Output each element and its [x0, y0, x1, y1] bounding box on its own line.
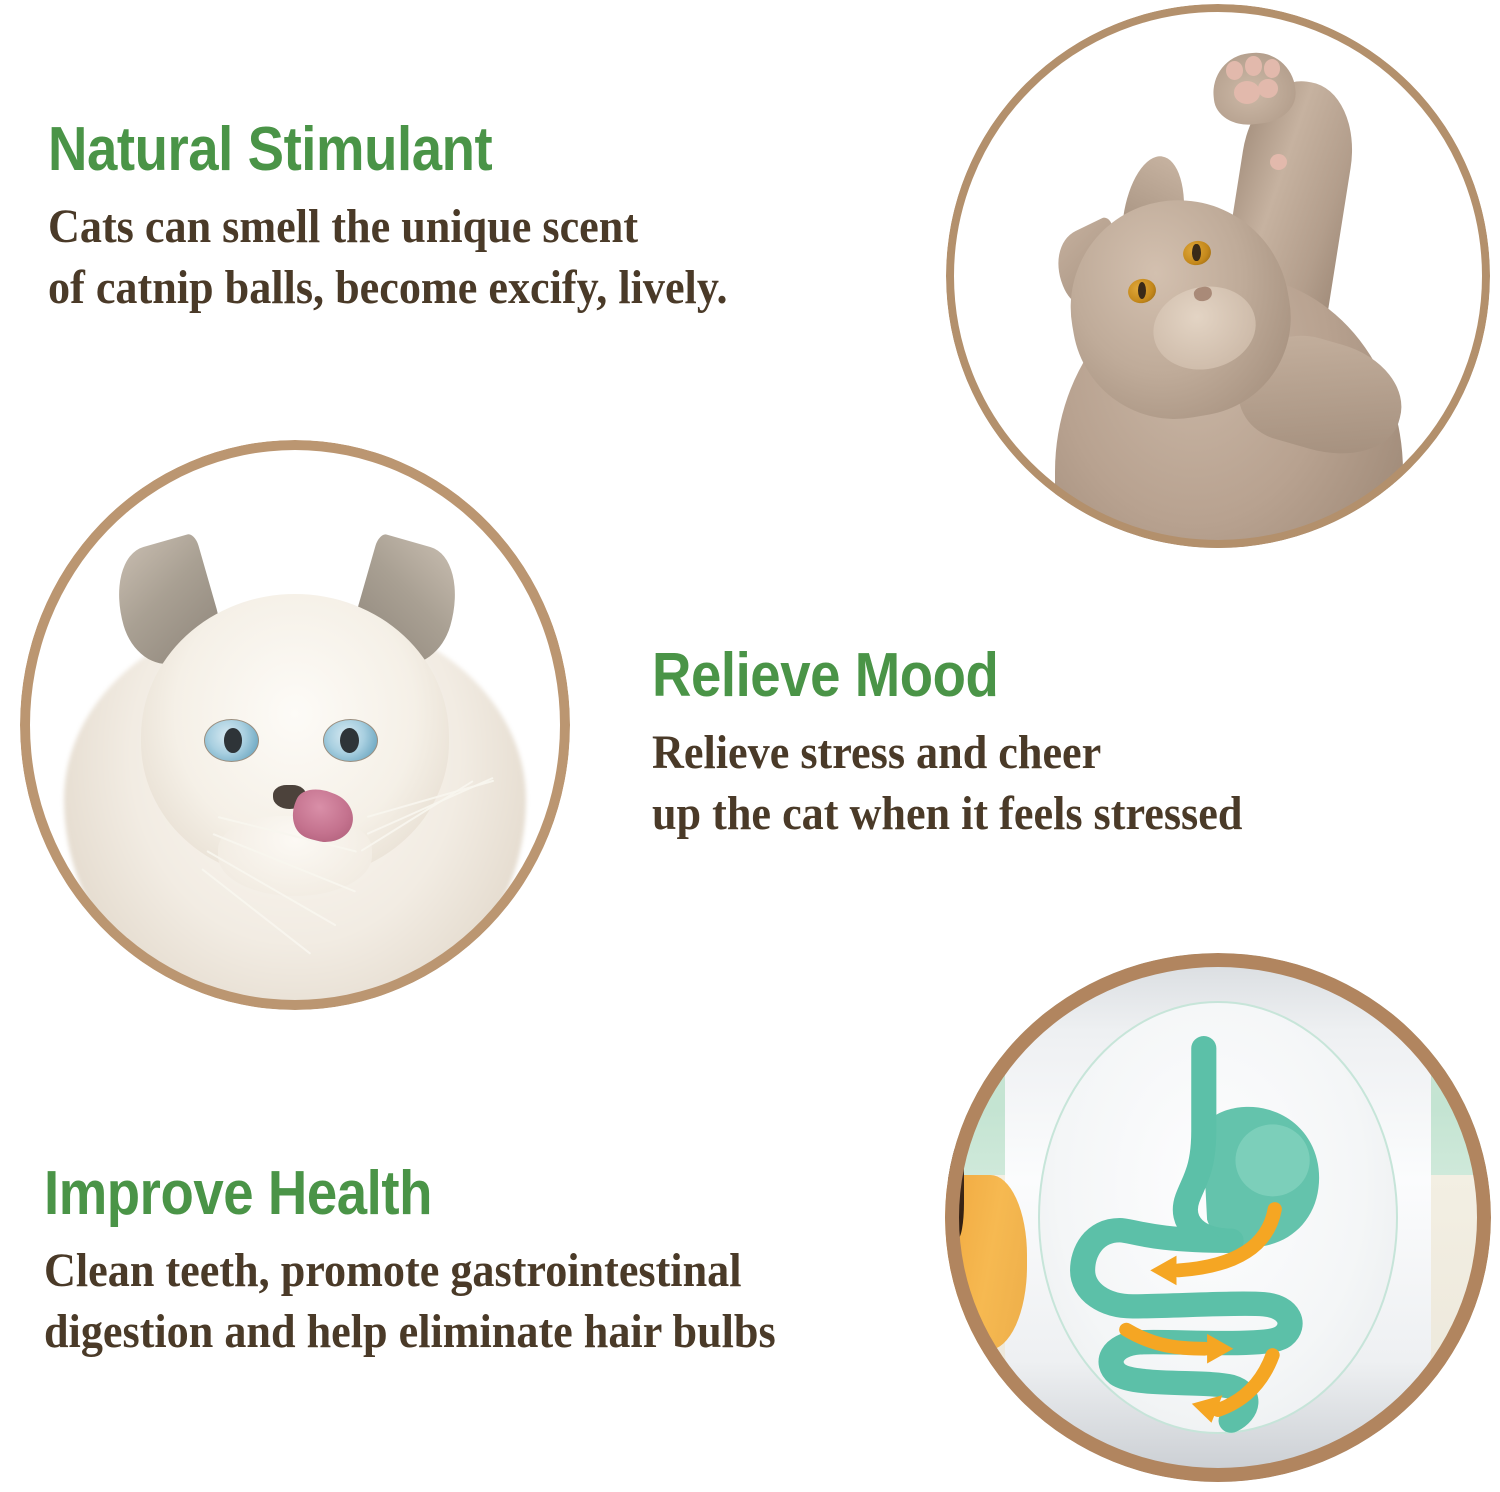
feature-text-line: Clean teeth, promote gastrointestinal [44, 1241, 776, 1301]
feature-title-relieve-mood: Relieve Mood [652, 644, 1217, 707]
feature-block-natural-stimulant: Natural Stimulant Cats can smell the uni… [48, 118, 787, 318]
photo-circle-reaching-cat [946, 4, 1490, 548]
reaching-cat-photo [946, 4, 1490, 548]
digestive-tract-icon [945, 953, 1491, 1482]
feature-title-natural-stimulant: Natural Stimulant [48, 118, 698, 181]
feature-text-line: digestion and help eliminate hair bulbs [44, 1302, 776, 1362]
feature-title-improve-health: Improve Health [44, 1162, 744, 1225]
feature-text-line: up the cat when it feels stressed [652, 784, 1242, 844]
feature-text-line: Cats can smell the unique scent [48, 197, 728, 257]
digestive-diagram-photo [945, 953, 1491, 1482]
feature-text-line: Relieve stress and cheer [652, 723, 1242, 783]
photo-circle-digestive-diagram [945, 953, 1491, 1482]
infographic-canvas: Natural Stimulant Cats can smell the uni… [0, 0, 1500, 1492]
photo-circle-kitten-licking [20, 440, 570, 1010]
feature-block-improve-health: Improve Health Clean teeth, promote gast… [44, 1162, 839, 1362]
kitten-licking-photo [20, 440, 570, 1010]
feature-text-line: of catnip balls, become excify, lively. [48, 258, 728, 318]
feature-block-relieve-mood: Relieve Mood Relieve stress and cheer up… [652, 644, 1294, 844]
